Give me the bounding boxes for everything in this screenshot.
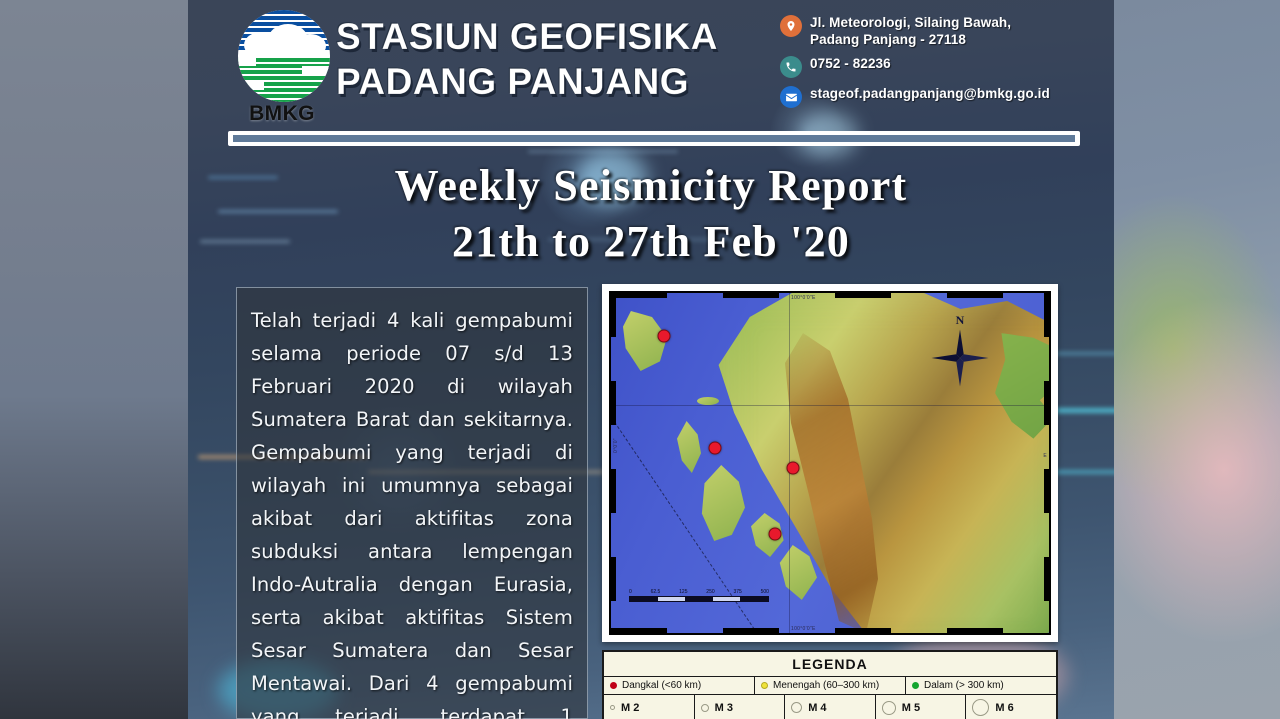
bmkg-logo-icon (238, 10, 330, 102)
bg-streak (1052, 470, 1114, 474)
map-neatline-dash (947, 628, 1003, 633)
scalebar-segment (630, 597, 658, 601)
poster-header: BMKG STASIUN GEOFISIKA PADANG PANJANG Jl… (188, 6, 1114, 128)
scalebar-tick: 250 (706, 589, 714, 595)
legend-magnitude-m6: M 6 (966, 695, 1056, 719)
legend-magnitude-circle-icon (701, 704, 709, 712)
seismicity-map-frame: N (602, 284, 1058, 642)
backdrop-right-letterbox (1114, 0, 1280, 719)
screenshot-root: BMKG STASIUN GEOFISIKA PADANG PANJANG Jl… (0, 0, 1280, 719)
legend-depth-shallow: Dangkal (<60 km) (604, 677, 755, 694)
backdrop-left-letterbox (0, 0, 190, 719)
scalebar-tick: 0 (629, 589, 632, 595)
map-neatline-dash (1044, 557, 1049, 601)
logo-mask (302, 66, 330, 74)
report-title-line-2: 21th to 27th Feb '20 (188, 214, 1114, 270)
legend-depth-row: Dangkal (<60 km) Menengah (60–300 km) Da… (604, 677, 1056, 695)
legend-depth-deep-label: Dalam (> 300 km) (924, 680, 1004, 691)
legend-magnitude-circle-icon (972, 699, 989, 716)
legend-depth-mid: Menengah (60–300 km) (755, 677, 906, 694)
scalebar-tick: 125 (679, 589, 687, 595)
scalebar-segment (658, 597, 686, 601)
legend-depth-mid-label: Menengah (60–300 km) (773, 680, 879, 691)
legend-magnitude-circle-icon (791, 702, 802, 713)
scalebar-tick: 62.5 (651, 589, 661, 595)
scalebar-segment (713, 597, 741, 601)
map-coordinate-top: 100°0'0"E (791, 295, 816, 301)
scalebar-bar (629, 596, 769, 602)
organisation-title: STASIUN GEOFISIKA PADANG PANJANG (336, 14, 756, 104)
legend-title: LEGENDA (604, 652, 1056, 677)
epicenter-marker[interactable] (786, 462, 799, 475)
legend-depth-shallow-label: Dangkal (<60 km) (622, 680, 701, 691)
scalebar-segment (740, 597, 768, 601)
legend-magnitude-m3: M 3 (695, 695, 786, 719)
compass-north-label: N (929, 313, 991, 328)
map-neatline-dash (611, 293, 616, 337)
contact-address: Jl. Meteorologi, Silaing Bawah, Padang P… (780, 14, 1100, 48)
legend-magnitude-m3-label: M 3 (715, 702, 733, 714)
legend-magnitude-m2-label: M 2 (621, 702, 639, 714)
contact-phone: 0752 - 82236 (780, 55, 1100, 78)
contact-email: stageof.padangpanjang@bmkg.go.id (780, 85, 1100, 108)
contact-address-text: Jl. Meteorologi, Silaing Bawah, Padang P… (810, 14, 1011, 48)
legend-magnitude-m4-label: M 4 (808, 702, 826, 714)
map-neatline-dash (611, 293, 667, 298)
map-neatline-dash (611, 469, 616, 513)
scalebar-tick: 500 (761, 589, 769, 595)
report-title-line-1: Weekly Seismicity Report (188, 158, 1114, 214)
map-neatline-dash (1044, 293, 1049, 337)
map-neatline-dash (611, 381, 616, 425)
map-neatline-dash (611, 557, 616, 601)
map-coordinate-bottom: 100°0'0"E (791, 626, 816, 632)
map-coordinate-right: E (1043, 453, 1047, 459)
epicenter-marker[interactable] (709, 441, 722, 454)
poster-panel: BMKG STASIUN GEOFISIKA PADANG PANJANG Jl… (188, 0, 1114, 719)
scalebar-segment (685, 597, 713, 601)
map-scalebar: 0 62.5 125 250 375 500 (629, 589, 769, 602)
map-legend: LEGENDA Dangkal (<60 km) Menengah (60–30… (602, 650, 1058, 719)
map-neatline-dash (835, 628, 891, 633)
map-neatline-dash (611, 628, 667, 633)
map-neatline-dash (723, 293, 779, 298)
map-neatline-dash (1044, 381, 1049, 425)
seismicity-map[interactable]: N (609, 291, 1051, 635)
scalebar-ticks: 0 62.5 125 250 375 500 (629, 589, 769, 595)
location-pin-icon (780, 15, 802, 37)
bmkg-logo-text: BMKG (232, 102, 332, 126)
legend-magnitude-m4: M 4 (785, 695, 876, 719)
legend-magnitude-circle-icon (882, 701, 896, 715)
legend-depth-deep: Dalam (> 300 km) (906, 677, 1056, 694)
graticule-parallel (611, 405, 1049, 406)
legend-magnitude-circle-icon (610, 705, 615, 710)
legend-magnitude-row: M 2 M 3 M 4 M 5 M 6 (604, 695, 1056, 719)
address-line-2: Padang Panjang - 27118 (810, 32, 966, 47)
org-name-line-1: STASIUN GEOFISIKA (336, 14, 756, 59)
map-coordinate-left: 0°0'0" (613, 438, 619, 453)
narrative-body: Telah terjadi 4 kali gempabumi selama pe… (251, 304, 573, 719)
map-neatline-dash (1044, 469, 1049, 513)
report-title: Weekly Seismicity Report 21th to 27th Fe… (188, 158, 1114, 270)
telephone-icon (780, 56, 802, 78)
map-neatline-dash (835, 293, 891, 298)
legend-magnitude-m2: M 2 (604, 695, 695, 719)
contact-block: Jl. Meteorologi, Silaing Bawah, Padang P… (780, 14, 1100, 115)
address-line-1: Jl. Meteorologi, Silaing Bawah, (810, 15, 1011, 30)
legend-dot-deep-icon (912, 682, 919, 689)
mail-icon (780, 86, 802, 108)
header-divider (228, 131, 1080, 146)
legend-dot-mid-icon (761, 682, 768, 689)
epicenter-marker[interactable] (769, 528, 782, 541)
org-name-line-2: PADANG PANJANG (336, 59, 756, 104)
epicenter-marker[interactable] (657, 329, 670, 342)
narrative-textbox: Telah terjadi 4 kali gempabumi selama pe… (236, 287, 588, 719)
logo-mask (238, 58, 256, 66)
legend-magnitude-m6-label: M 6 (995, 702, 1013, 714)
bmkg-logo: BMKG (232, 10, 332, 130)
legend-magnitude-m5: M 5 (876, 695, 967, 719)
map-neatline-dash (723, 628, 779, 633)
logo-mask (238, 82, 264, 90)
map-neatline-dash (947, 293, 1003, 298)
island-small (697, 397, 719, 405)
header-divider-inner (233, 135, 1075, 142)
compass-rose-icon: N (929, 315, 991, 391)
legend-magnitude-m5-label: M 5 (902, 702, 920, 714)
legend-dot-shallow-icon (610, 682, 617, 689)
scalebar-tick: 375 (733, 589, 741, 595)
contact-email-text: stageof.padangpanjang@bmkg.go.id (810, 85, 1050, 102)
contact-phone-text: 0752 - 82236 (810, 55, 891, 72)
